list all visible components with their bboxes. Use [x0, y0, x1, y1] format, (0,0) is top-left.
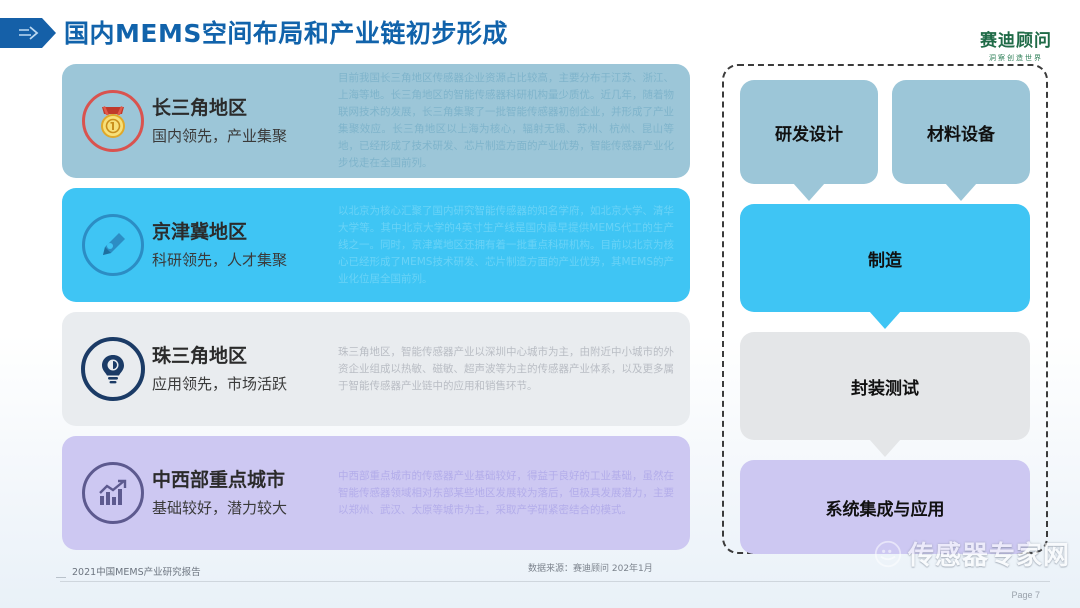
- card-body-text: 以北京为核心汇聚了国内研究智能传感器的知名学府，如北京大学、清华大学等。其中北京…: [332, 203, 676, 288]
- card-title: 中西部重点城市: [152, 468, 332, 493]
- region-card-yangtze[interactable]: 长三角地区 国内领先，产业集聚 目前我国长三角地区传感器企业资源占比较高，主要分…: [62, 64, 690, 178]
- slide-canvas: 国内MEMS空间布局和产业链初步形成 赛迪顾问 洞察创造世界: [0, 0, 1080, 608]
- flow-top-row: 研发设计 材料设备: [740, 80, 1030, 184]
- arrow-down-icon: [869, 311, 901, 329]
- card-titles: 长三角地区 国内领先，产业集聚: [150, 96, 332, 146]
- card-titles: 中西部重点城市 基础较好，潜力较大: [150, 468, 332, 518]
- watermark-text: 传感器专家网: [908, 535, 1070, 572]
- card-body-text: 中西部重点城市的传感器产业基础较好，得益于良好的工业基础，虽然在智能传感器领域相…: [332, 468, 676, 519]
- region-card-list: 长三角地区 国内领先，产业集聚 目前我国长三角地区传感器企业资源占比较高，主要分…: [62, 64, 690, 560]
- card-title: 京津冀地区: [152, 220, 332, 245]
- data-source-note: 数据来源：赛迪顾问 202年1月: [528, 561, 653, 574]
- footer-tick: [56, 577, 66, 578]
- logo-main-text: 赛迪顾问: [980, 26, 1052, 51]
- footer-report-title: 2021中国MEMS产业研究报告: [72, 564, 201, 578]
- card-subtitle: 基础较好，潜力较大: [152, 499, 332, 519]
- flow-node-label: 材料设备: [927, 120, 995, 145]
- arrow-down-icon: [945, 183, 977, 201]
- region-card-central-west[interactable]: 中西部重点城市 基础较好，潜力较大 中西部重点城市的传感器产业基础较好，得益于良…: [62, 436, 690, 550]
- flow-node-label: 封装测试: [851, 374, 919, 399]
- bar-chart-growth-icon: [82, 462, 144, 524]
- card-subtitle: 国内领先，产业集聚: [152, 127, 332, 147]
- card-body-text: 目前我国长三角地区传感器企业资源占比较高，主要分布于江苏、浙江、上海等地。长三角…: [332, 70, 676, 172]
- card-titles: 京津冀地区 科研领先，人才集聚: [150, 220, 332, 270]
- flow-node-label: 制造: [868, 246, 902, 271]
- value-chain-flowchart: 研发设计 材料设备 制造 封装测试 系统集成与应用: [722, 64, 1048, 554]
- research-pen-icon: [82, 214, 144, 276]
- card-subtitle: 应用领先，市场活跃: [152, 375, 332, 395]
- flow-node-materials[interactable]: 材料设备: [892, 80, 1030, 184]
- flow-node-manufacturing[interactable]: 制造: [740, 204, 1030, 312]
- arrow-down-icon: [793, 183, 825, 201]
- wechat-icon: [874, 540, 902, 568]
- card-icon-slot: [76, 90, 150, 152]
- card-title: 长三角地区: [152, 96, 332, 121]
- flow-spacer: [740, 184, 1030, 204]
- card-titles: 珠三角地区 应用领先，市场活跃: [150, 344, 332, 394]
- flow-node-rnd[interactable]: 研发设计: [740, 80, 878, 184]
- card-icon-slot: [76, 214, 150, 276]
- gold-medal-icon: [82, 90, 144, 152]
- page-title: 国内MEMS空间布局和产业链初步形成: [64, 14, 508, 50]
- region-card-pearl-river[interactable]: 珠三角地区 应用领先，市场活跃 珠三角地区，智能传感器产业以深圳中心城市为主，由…: [62, 312, 690, 426]
- flow-node-packaging-test[interactable]: 封装测试: [740, 332, 1030, 440]
- logo-sub-text: 洞察创造世界: [980, 53, 1052, 63]
- brand-logo: 赛迪顾问 洞察创造世界: [980, 26, 1052, 63]
- card-icon-slot: [76, 462, 150, 524]
- arrow-down-icon: [869, 439, 901, 457]
- flow-node-label: 研发设计: [775, 120, 843, 145]
- lightbulb-icon: [81, 337, 145, 401]
- chevron-right-icon: [0, 18, 56, 48]
- flow-node-label: 系统集成与应用: [826, 495, 945, 520]
- region-card-jingjinji[interactable]: 京津冀地区 科研领先，人才集聚 以北京为核心汇聚了国内研究智能传感器的知名学府，…: [62, 188, 690, 302]
- slide-header: 国内MEMS空间布局和产业链初步形成 赛迪顾问 洞察创造世界: [0, 14, 1080, 56]
- card-body-text: 珠三角地区，智能传感器产业以深圳中心城市为主，由附近中小城市的外资企业组成以热敏…: [332, 344, 676, 395]
- card-subtitle: 科研领先，人才集聚: [152, 251, 332, 271]
- card-icon-slot: [76, 337, 150, 401]
- card-title: 珠三角地区: [152, 344, 332, 369]
- page-number: Page 7: [1011, 590, 1040, 600]
- watermark: 传感器专家网: [874, 535, 1070, 572]
- footer-divider: [60, 581, 1050, 582]
